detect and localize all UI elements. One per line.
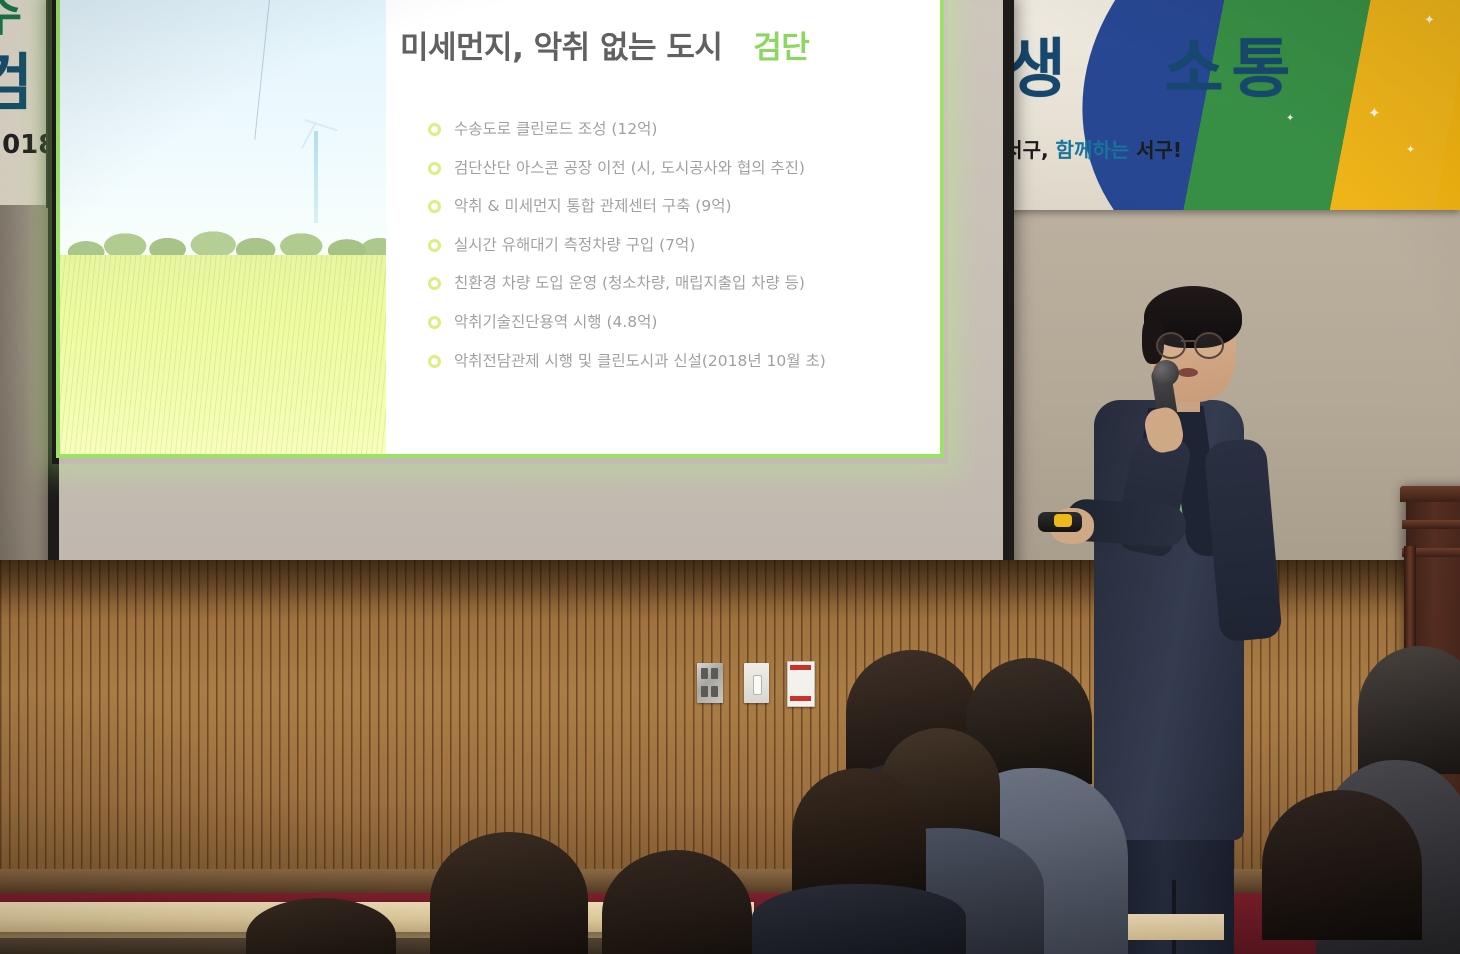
ring-bullet-icon [428, 355, 441, 368]
list-item [1262, 790, 1422, 940]
ring-bullet-icon [428, 316, 441, 329]
slide-bullet-list: 수송도로 클린로드 조성 (12억) 검단산단 아스콘 공장 이전 (시, 도시… [428, 120, 944, 390]
ring-bullet-icon [428, 162, 441, 175]
slide-title-main: 미세먼지, 악취 없는 도시 [400, 30, 722, 66]
bullet-text: 악취 & 미세먼지 통합 관제센터 구축 (9억) [454, 197, 732, 216]
list-item [792, 768, 926, 900]
slide-title: 미세먼지, 악취 없는 도시 검단 [400, 22, 940, 67]
bullet-text: 악취전담관제 시행 및 클린도시과 신설(2018년 10월 초) [454, 352, 826, 371]
light-switch[interactable] [744, 663, 769, 703]
bullet-text: 검단산단 아스콘 공장 이전 (시, 도시공사와 협의 추진) [454, 159, 805, 178]
sparkle-icon: ✦ [1286, 114, 1294, 124]
slide-title-accent: 검단 [753, 30, 809, 66]
list-item: 검단산단 아스콘 공장 이전 (시, 도시공사와 협의 추진) [428, 159, 944, 178]
list-item [752, 884, 966, 954]
banner-left-line2: 검 [0, 32, 33, 122]
bullet-text: 수송도로 클린로드 조성 (12억) [454, 120, 657, 139]
presenter-remote-button [1054, 514, 1072, 527]
eyeglasses-icon [1156, 332, 1186, 359]
list-item: 실시간 유해대기 측정차량 구입 (7억) [428, 236, 944, 255]
banner-sub-black2: 서구! [1136, 138, 1182, 162]
eyeglasses-icon [1194, 332, 1224, 359]
list-item: 악취전담관제 시행 및 클린도시과 신설(2018년 10월 초) [428, 352, 944, 371]
power-outlet[interactable] [697, 663, 723, 703]
ring-bullet-icon [428, 239, 441, 252]
podium-molding [1402, 520, 1460, 529]
ring-bullet-icon [428, 200, 441, 213]
bullet-text: 악취기술진단용역 시행 (4.8억) [454, 313, 657, 332]
projected-slide: 미세먼지, 악취 없는 도시 검단 수송도로 클린로드 조성 (12억) 검단산… [56, 0, 944, 458]
podium-top [1400, 486, 1460, 502]
sparkle-icon: ✦ [1368, 106, 1381, 121]
sparkle-icon: ✦ [1406, 144, 1415, 155]
presentation-scene: 주 검 2018 ✦ ✦ ✦ ✦ 류 생생 소통 행복한 서구, 함께하는 서구… [0, 0, 1460, 954]
list-item: 친환경 차량 도입 운영 (청소차량, 매립지출입 차량 등) [428, 274, 944, 293]
slide-photo [60, 0, 386, 454]
list-item: 수송도로 클린로드 조성 (12억) [428, 120, 944, 139]
banner-headline-part2: 소통 [1165, 33, 1299, 107]
bullet-text: 실시간 유해대기 측정차량 구입 (7억) [454, 236, 695, 255]
ring-bullet-icon [428, 123, 441, 136]
banner-left: 주 검 2018 [0, 0, 52, 205]
bullet-text: 친환경 차량 도입 운영 (청소차량, 매립지출입 차량 등) [454, 274, 805, 293]
sparkle-icon: ✦ [1424, 14, 1435, 27]
presenter-mouth [1178, 368, 1198, 377]
banner-sub-blue: 함께하는 [1056, 138, 1130, 162]
ring-bullet-icon [428, 277, 441, 290]
list-item: 악취기술진단용역 시행 (4.8억) [428, 313, 944, 332]
banner-left-year: 2018 [0, 130, 52, 160]
list-item: 악취 & 미세먼지 통합 관제센터 구축 (9억) [428, 197, 944, 216]
fire-alarm-panel[interactable] [787, 661, 815, 707]
